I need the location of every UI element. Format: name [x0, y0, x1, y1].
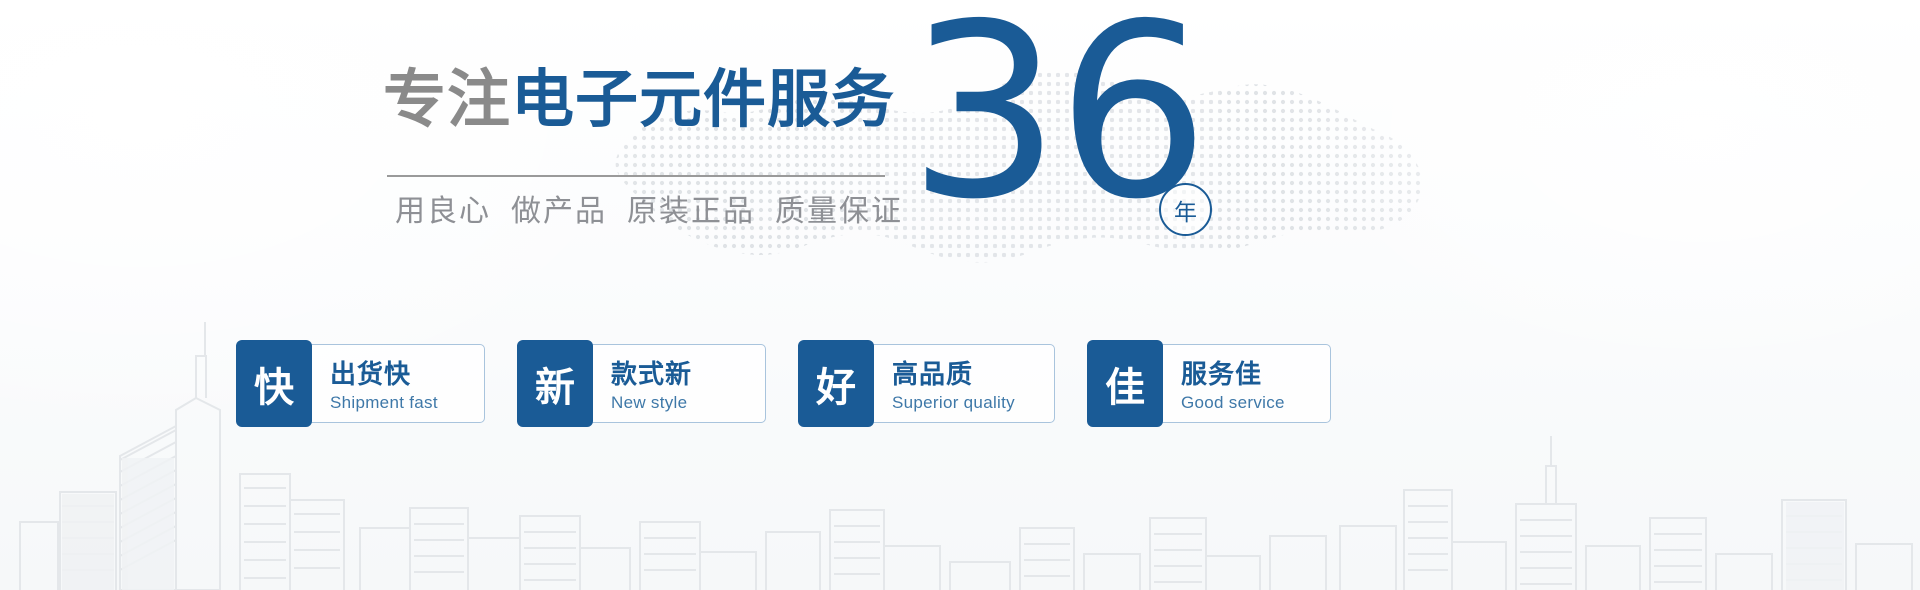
- feature-card-style[interactable]: 新 款式新 New style: [521, 344, 766, 423]
- subtitle-item-3: 原装正品: [627, 194, 755, 229]
- subtitle-item-2: 做产品: [511, 194, 607, 229]
- subtitle-item-4: 质量保证: [775, 194, 903, 229]
- subtitle-item-1: 用良心: [395, 194, 491, 229]
- headline-gray-part: 专注: [383, 63, 511, 136]
- feature-card-subtitle: Good service: [1181, 391, 1285, 415]
- feature-card-shipment[interactable]: 快 出货快 Shipment fast: [240, 344, 485, 423]
- feature-card-list: 快 出货快 Shipment fast 新 款式新 New style 好 高品…: [240, 344, 1331, 423]
- feature-badge-character: 新: [517, 340, 593, 427]
- feature-card-text: 服务佳 Good service: [1163, 345, 1307, 422]
- feature-card-subtitle: Shipment fast: [330, 391, 438, 415]
- feature-badge-character: 快: [236, 340, 312, 427]
- feature-card-title: 出货快: [330, 361, 438, 391]
- year-unit-badge: 年: [1159, 183, 1212, 236]
- page-title: 专注电子元件服务: [383, 68, 903, 132]
- feature-card-subtitle: Superior quality: [892, 391, 1015, 415]
- feature-card-title: 高品质: [892, 361, 1015, 391]
- feature-badge-character: 佳: [1087, 340, 1163, 427]
- feature-card-text: 款式新 New style: [593, 345, 714, 422]
- light-wash-right: [1280, 0, 1920, 380]
- feature-card-subtitle: New style: [611, 391, 692, 415]
- feature-card-service[interactable]: 佳 服务佳 Good service: [1091, 344, 1331, 423]
- feature-card-text: 高品质 Superior quality: [874, 345, 1037, 422]
- headline-block: 专注电子元件服务: [383, 68, 903, 132]
- headline-blue-part: 电子元件服务: [511, 63, 895, 136]
- feature-card-text: 出货快 Shipment fast: [312, 345, 460, 422]
- feature-card-quality[interactable]: 好 高品质 Superior quality: [802, 344, 1055, 423]
- feature-card-title: 款式新: [611, 361, 692, 391]
- title-divider: [387, 175, 885, 177]
- feature-card-title: 服务佳: [1181, 361, 1285, 391]
- promo-banner: 专注电子元件服务 用良心做产品原装正品质量保证 36 年 快 出货快 Shipm…: [0, 0, 1920, 590]
- subtitle: 用良心做产品原装正品质量保证: [395, 186, 903, 230]
- feature-badge-character: 好: [798, 340, 874, 427]
